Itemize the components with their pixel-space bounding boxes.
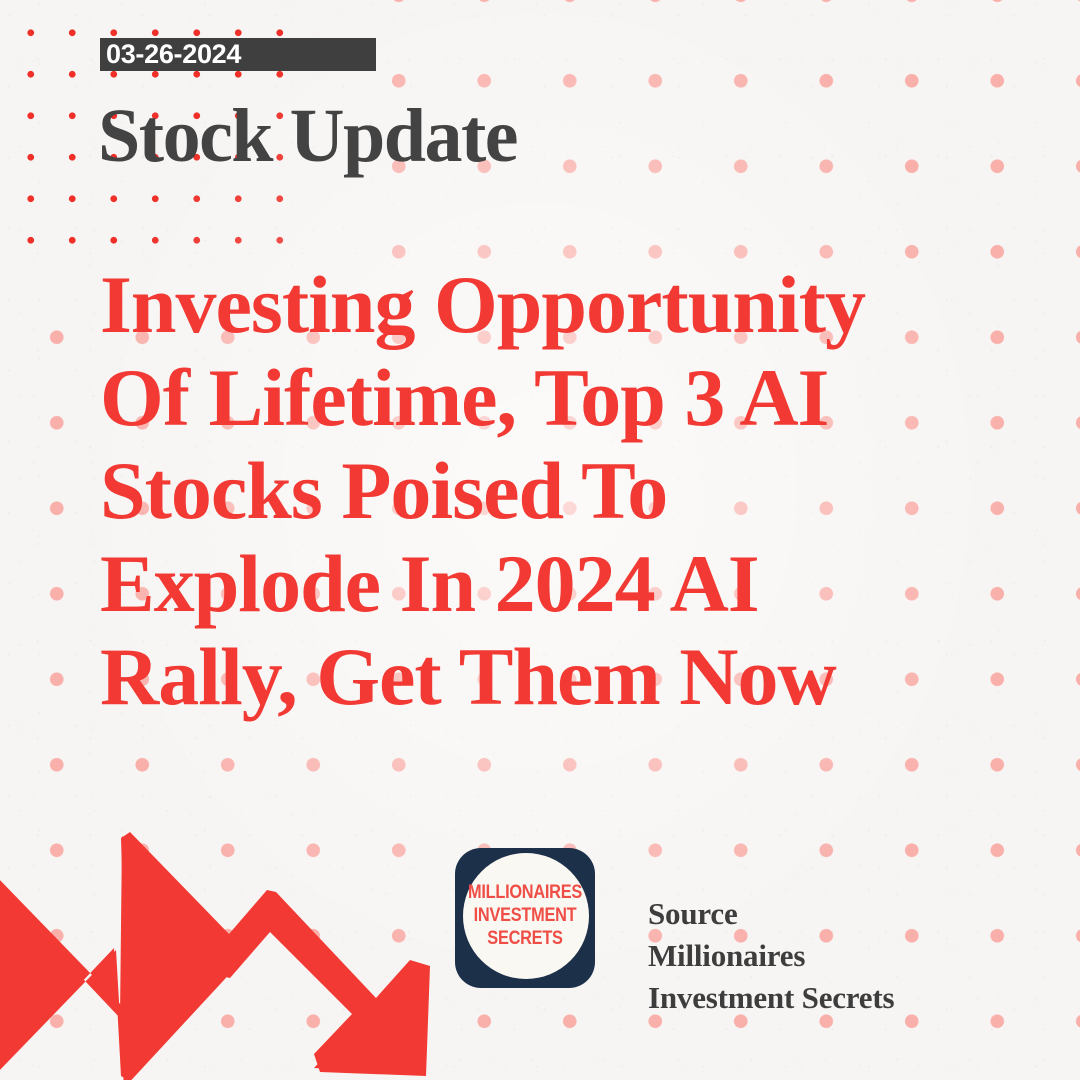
- kicker-title: Stock Update: [98, 98, 517, 174]
- headline-line-2: Of Lifetime, Top 3 AI: [100, 351, 1000, 444]
- headline: Investing Opportunity Of Lifetime, Top 3…: [100, 258, 1000, 723]
- logo-text-line-1: MILLIONAIRES: [465, 881, 585, 904]
- brand-logo: MILLIONAIRES INVESTMENT SECRETS: [455, 848, 595, 988]
- date-badge-text: 03-26-2024: [100, 41, 241, 68]
- source-name-line-1: Millionaires: [648, 935, 894, 977]
- date-badge: 03-26-2024: [100, 38, 376, 71]
- logo-text-line-2: INVESTMENT: [465, 904, 585, 927]
- headline-line-4: Explode In 2024 AI: [100, 537, 1000, 630]
- headline-line-5: Rally, Get Them Now: [100, 630, 1000, 723]
- stock-update-poster: 03-26-2024 Stock Update Investing Opport…: [0, 0, 1080, 1080]
- source-label: Source: [648, 893, 894, 935]
- logo-text: MILLIONAIRES INVESTMENT SECRETS: [465, 881, 585, 950]
- logo-text-line-3: SECRETS: [465, 927, 585, 950]
- headline-line-1: Investing Opportunity: [100, 258, 1000, 351]
- source-name-line-2: Investment Secrets: [648, 977, 894, 1019]
- source-credit: Source Millionaires Investment Secrets: [648, 893, 894, 1019]
- headline-line-3: Stocks Poised To: [100, 444, 1000, 537]
- downward-trend-arrow-icon: [0, 828, 438, 1080]
